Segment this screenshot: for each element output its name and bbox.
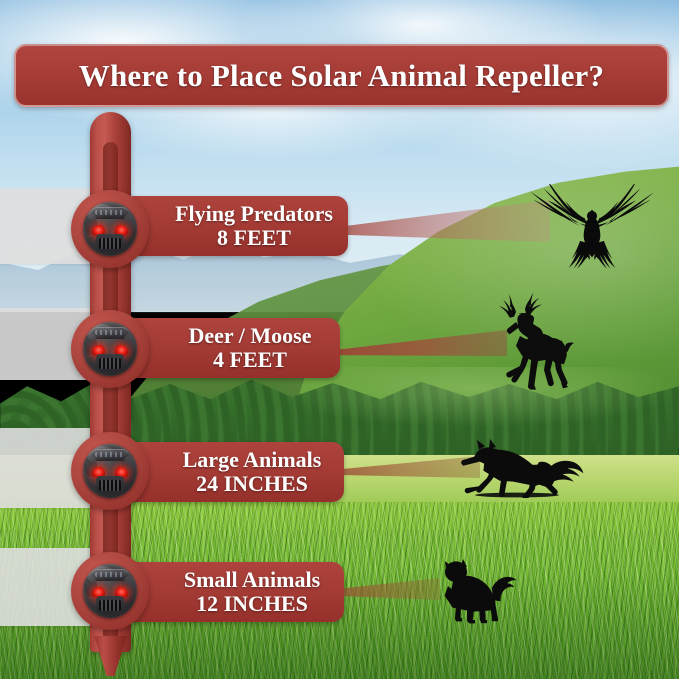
solar-animal-repeller-device-icon	[83, 322, 137, 376]
callout-target-label: Small Animals	[184, 568, 320, 592]
callout-small-animals[interactable]: Small Animals 12 INCHES	[122, 562, 344, 622]
solar-animal-repeller-device-icon	[83, 564, 137, 618]
device-mount-flying-predators[interactable]	[71, 190, 149, 268]
callout-height-label: 8 FEET	[217, 226, 291, 251]
callout-flying-predators[interactable]: Flying Predators 8 FEET	[122, 196, 348, 256]
ultrasonic-speaker-grille-icon	[96, 596, 124, 614]
device-mount-large-animals[interactable]	[71, 432, 149, 510]
page-title: Where to Place Solar Animal Repeller?	[14, 44, 669, 107]
callout-height-label: 4 FEET	[213, 348, 287, 373]
ultrasonic-speaker-grille-icon	[96, 476, 124, 494]
fox-silhouette-icon	[455, 436, 585, 498]
callout-target-label: Large Animals	[183, 448, 322, 472]
deer-silhouette-icon	[480, 282, 588, 394]
solar-animal-repeller-device-icon	[83, 202, 137, 256]
page-title-text: Where to Place Solar Animal Repeller?	[79, 58, 604, 94]
eagle-silhouette-icon	[508, 184, 676, 282]
callout-target-label: Flying Predators	[175, 202, 333, 226]
callout-target-label: Deer / Moose	[189, 324, 312, 348]
solar-animal-repeller-device-icon	[83, 444, 137, 498]
cat-silhouette-icon	[432, 552, 518, 624]
callout-large-animals[interactable]: Large Animals 24 INCHES	[122, 442, 344, 502]
ultrasonic-speaker-grille-icon	[96, 354, 124, 372]
callout-height-label: 12 INCHES	[196, 592, 308, 617]
device-mount-small-animals[interactable]	[71, 552, 149, 630]
ultrasonic-speaker-grille-icon	[96, 234, 124, 252]
callout-deer-moose[interactable]: Deer / Moose 4 FEET	[122, 318, 340, 378]
callout-height-label: 24 INCHES	[196, 472, 308, 497]
device-mount-deer-moose[interactable]	[71, 310, 149, 388]
infographic-canvas: Where to Place Solar Animal Repeller?	[0, 0, 679, 679]
